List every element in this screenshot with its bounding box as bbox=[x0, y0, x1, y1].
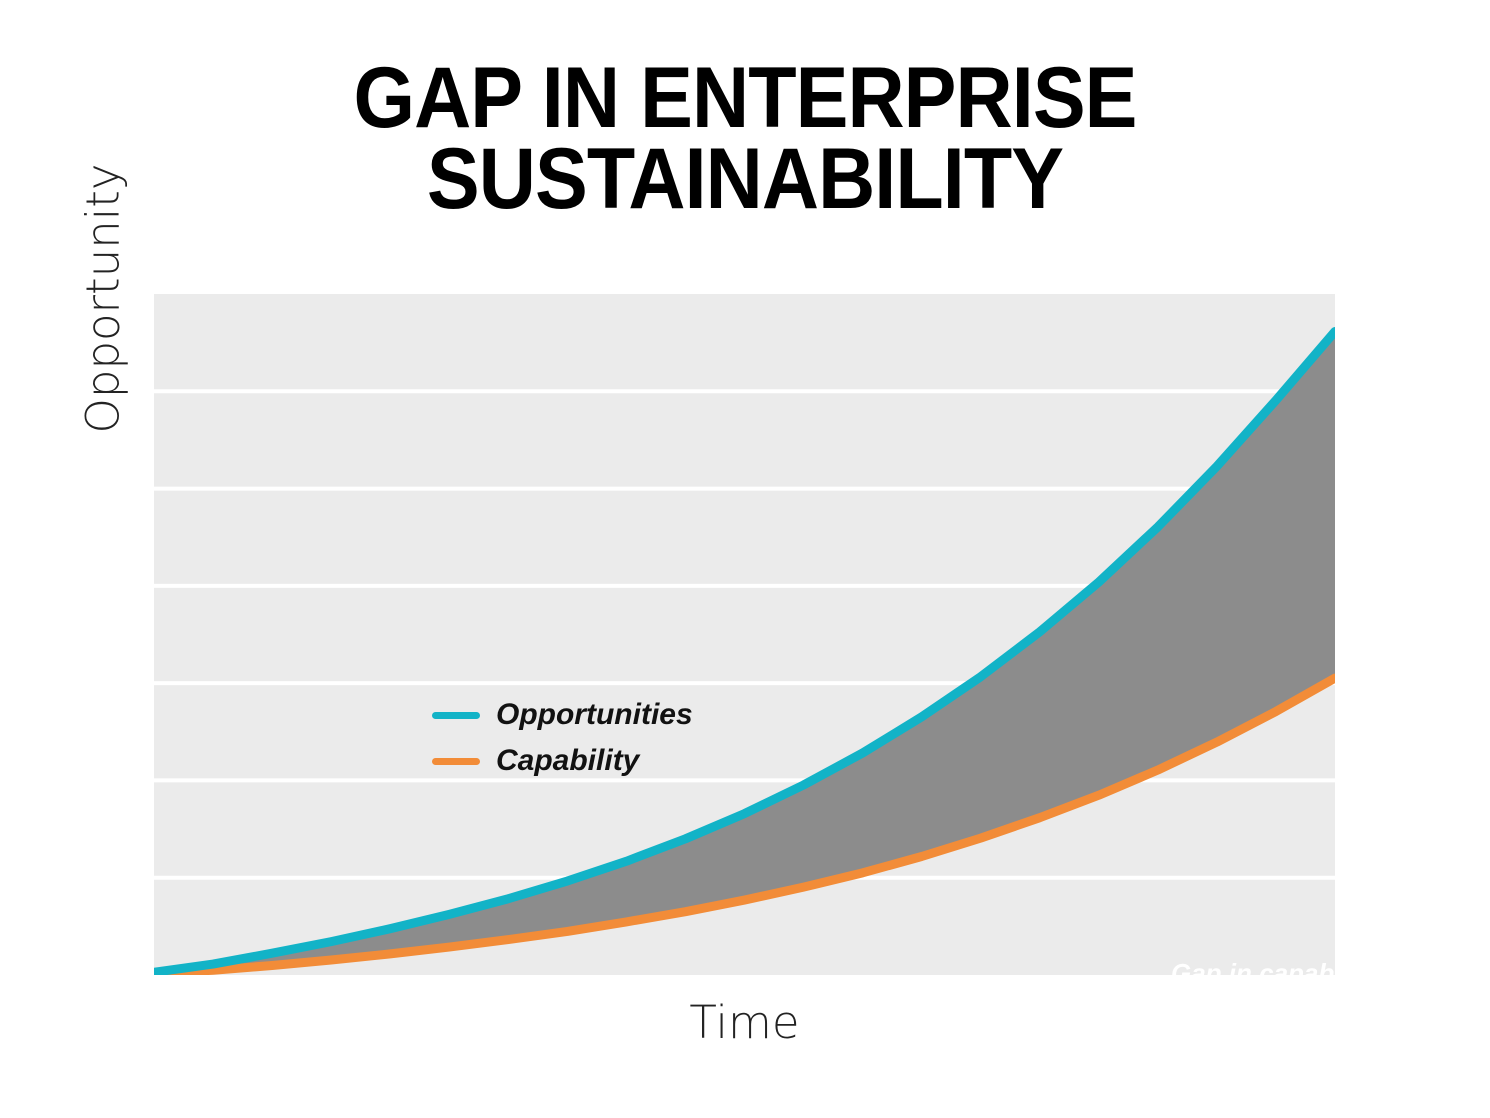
plot-area: Opportunities Capability Gap in capabili… bbox=[154, 294, 1335, 975]
legend-label-opportunities: Opportunities bbox=[496, 698, 693, 732]
legend-swatch-opportunities bbox=[432, 712, 480, 719]
legend-item-opportunities: Opportunities bbox=[432, 692, 693, 738]
legend-label-capability: Capability bbox=[496, 744, 639, 778]
chart-figure: GAP IN ENTERPRISE SUSTAINABILITY O bbox=[0, 0, 1490, 1118]
chart-legend: Opportunities Capability bbox=[432, 692, 693, 784]
y-axis-label: Opportunity bbox=[77, 79, 130, 519]
legend-swatch-capability bbox=[432, 758, 480, 765]
page-title: GAP IN ENTERPRISE SUSTAINABILITY bbox=[60, 58, 1431, 220]
plot-svg bbox=[154, 294, 1335, 975]
x-axis-label: Time bbox=[154, 996, 1335, 1049]
legend-item-capability: Capability bbox=[432, 738, 693, 784]
